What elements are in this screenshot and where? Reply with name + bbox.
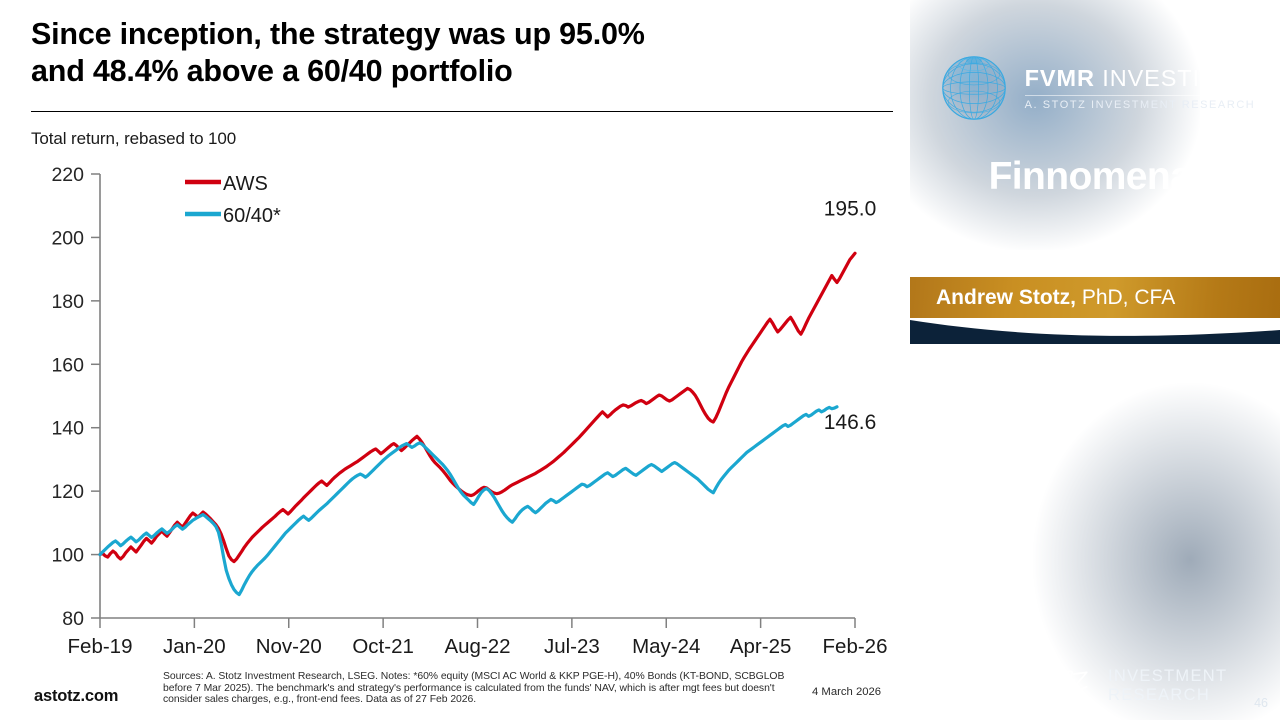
y-tick-label: 100 xyxy=(51,545,84,567)
y-tick-label: 200 xyxy=(51,227,84,249)
end-label-aws: 195.0 xyxy=(824,197,877,220)
y-tick-label: 120 xyxy=(51,481,84,503)
presenter-name: Andrew Stotz, xyxy=(936,286,1076,309)
y-tick-label: 180 xyxy=(51,291,84,313)
y-tick-label: 80 xyxy=(62,608,84,630)
x-axis-ticks xyxy=(100,618,855,628)
brand-secondary: A. STOTZ INVESTMENT RESEARCH xyxy=(1025,99,1256,111)
x-tick-label: Jul-23 xyxy=(544,635,600,658)
series-line-aws xyxy=(100,253,855,561)
x-tick-label: Apr-25 xyxy=(730,635,792,658)
x-tick-label: Jan-20 xyxy=(163,635,226,658)
presenter-text: Andrew Stotz, PhD, CFA xyxy=(936,286,1175,310)
y-tick-label: 140 xyxy=(51,418,84,440)
title-divider xyxy=(31,111,893,112)
footer-logo-text: INVESTMENT RESEARCH xyxy=(1108,667,1227,706)
x-tick-label: Oct-21 xyxy=(352,635,414,658)
x-tick-label: Feb-19 xyxy=(68,635,133,658)
page-number: 46 xyxy=(1254,696,1268,710)
brand-primary: FVMR INVESTING xyxy=(1025,65,1237,92)
presenter-band: Andrew Stotz, PhD, CFA xyxy=(910,277,1280,319)
series-line-6040 xyxy=(100,407,837,595)
series-end-labels: 195.0146.6 xyxy=(824,197,877,433)
y-tick-label: 160 xyxy=(51,354,84,376)
brand-text-block: FVMR INVESTING A. STOTZ INVESTMENT RESEA… xyxy=(1025,65,1256,111)
x-tick-label: Aug-22 xyxy=(444,635,510,658)
legend-label-6040: 60/40* xyxy=(223,205,281,227)
footer-logo-line2: RESEARCH xyxy=(1108,686,1227,706)
brand-lockup: FVMR INVESTING A. STOTZ INVESTMENT RESEA… xyxy=(910,40,1280,135)
x-tick-label: Feb-26 xyxy=(823,635,888,658)
footer-logo-lockup: INVESTMENT RESEARCH xyxy=(910,655,1280,717)
slide-root: Since inception, the strategy was up 95.… xyxy=(0,0,1280,720)
date-footer: 4 March 2026 xyxy=(812,686,881,698)
sources-note: Sources: A. Stotz Investment Research, L… xyxy=(163,671,803,706)
x-axis-labels: Feb-19Jan-20Nov-20Oct-21Aug-22Jul-23May-… xyxy=(68,635,888,658)
y-axis-ticks xyxy=(91,174,100,618)
footer-logo-line1: INVESTMENT xyxy=(1108,667,1227,687)
chart-subtitle: Total return, rebased to 100 xyxy=(31,129,236,149)
y-axis-labels: 80100120140160180200220 xyxy=(51,164,84,630)
brand-fvmr: FVMR xyxy=(1025,65,1095,91)
website-footer[interactable]: astotz.com xyxy=(34,687,118,706)
page-title: Since inception, the strategy was up 95.… xyxy=(31,16,891,90)
legend-label-aws: AWS xyxy=(223,173,268,195)
series-lines xyxy=(100,253,855,594)
branding-sidebar: FVMR INVESTING A. STOTZ INVESTMENT RESEA… xyxy=(910,0,1280,720)
line-chart: 80100120140160180200220 Feb-19Jan-20Nov-… xyxy=(0,160,910,665)
brand-divider xyxy=(1025,95,1256,96)
end-label-6040: 146.6 xyxy=(824,411,877,434)
x-tick-label: Nov-20 xyxy=(256,635,322,658)
partner-logo-finnomena: Finnomena. xyxy=(910,155,1280,199)
globe-icon xyxy=(935,49,1013,127)
swoosh-divider xyxy=(910,318,1280,344)
brand-investing: INVESTING xyxy=(1095,65,1237,91)
x-tick-label: May-24 xyxy=(632,635,700,658)
a-stotz-signature-icon xyxy=(968,660,1096,712)
chart-legend: AWS60/40* xyxy=(185,173,281,227)
presenter-credentials: PhD, CFA xyxy=(1076,286,1175,309)
main-content-area: Since inception, the strategy was up 95.… xyxy=(0,0,910,720)
y-tick-label: 220 xyxy=(51,164,84,186)
